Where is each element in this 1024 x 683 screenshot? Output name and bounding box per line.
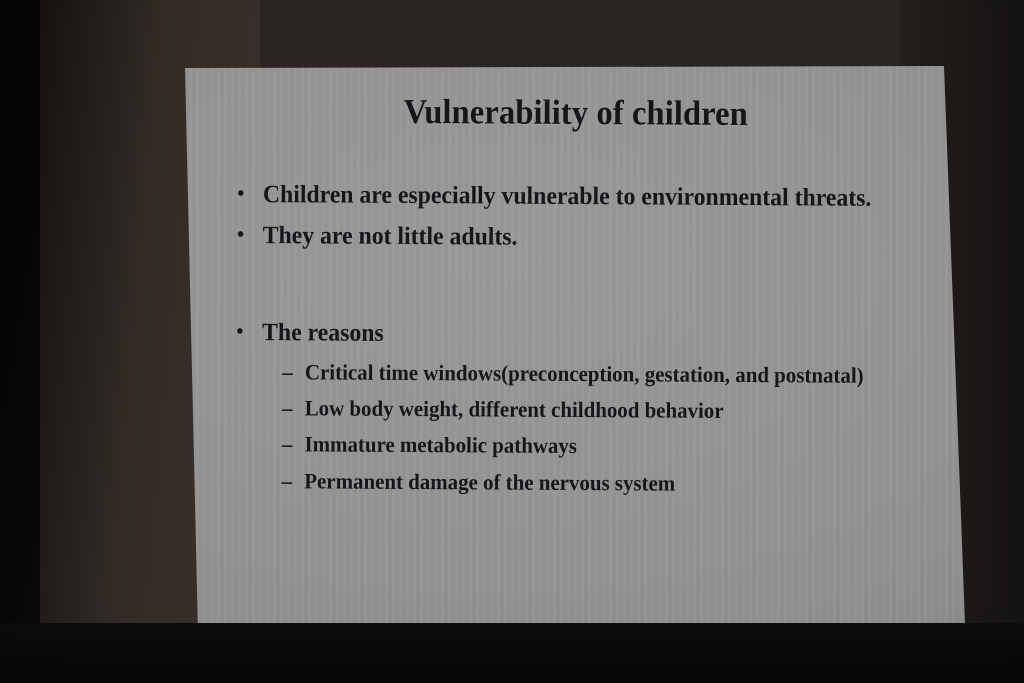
sub-bullet-text: Permanent damage of the nervous system [304, 466, 874, 499]
sub-bullet-text: Immature metabolic pathways [304, 430, 874, 463]
sub-bullet-item: – Immature metabolic pathways [282, 429, 921, 462]
bullet-dot-icon: • [237, 219, 263, 251]
wall-bottom-band [0, 623, 1024, 683]
bullet-dot-icon: • [237, 178, 263, 210]
sub-bullet-item: – Critical time windows(preconception, g… [282, 357, 921, 390]
dash-icon: – [282, 357, 305, 386]
dash-icon: – [282, 393, 305, 422]
slide-body: • Children are especially vulnerable to … [193, 177, 955, 499]
bullet-item: • Children are especially vulnerable to … [237, 178, 919, 216]
dash-icon: – [282, 429, 305, 458]
bullet-item: • They are not little adults. [237, 219, 919, 257]
slide-title: Vulnerability of children [222, 93, 929, 134]
sub-bullet-item: – Permanent damage of the nervous system [281, 466, 920, 499]
bullet-item: • The reasons [236, 316, 918, 354]
bullet-dot-icon: • [236, 316, 262, 348]
dash-icon: – [281, 466, 304, 495]
bullet-text: Children are especially vulnerable to en… [263, 178, 890, 216]
sub-bullet-text: Critical time windows(preconception, ges… [305, 357, 875, 390]
projected-slide-photo: Vulnerability of children • Children are… [0, 0, 1024, 683]
sub-bullet-list: – Critical time windows(preconception, g… [235, 357, 954, 499]
sub-bullet-item: – Low body weight, different childhood b… [282, 393, 921, 426]
blank-line-spacer [237, 260, 955, 320]
slide-content: Vulnerability of children • Children are… [193, 72, 956, 647]
sub-bullet-text: Low body weight, different childhood beh… [305, 393, 875, 426]
bullet-text: They are not little adults. [263, 219, 890, 257]
bullet-text: The reasons [262, 316, 889, 354]
